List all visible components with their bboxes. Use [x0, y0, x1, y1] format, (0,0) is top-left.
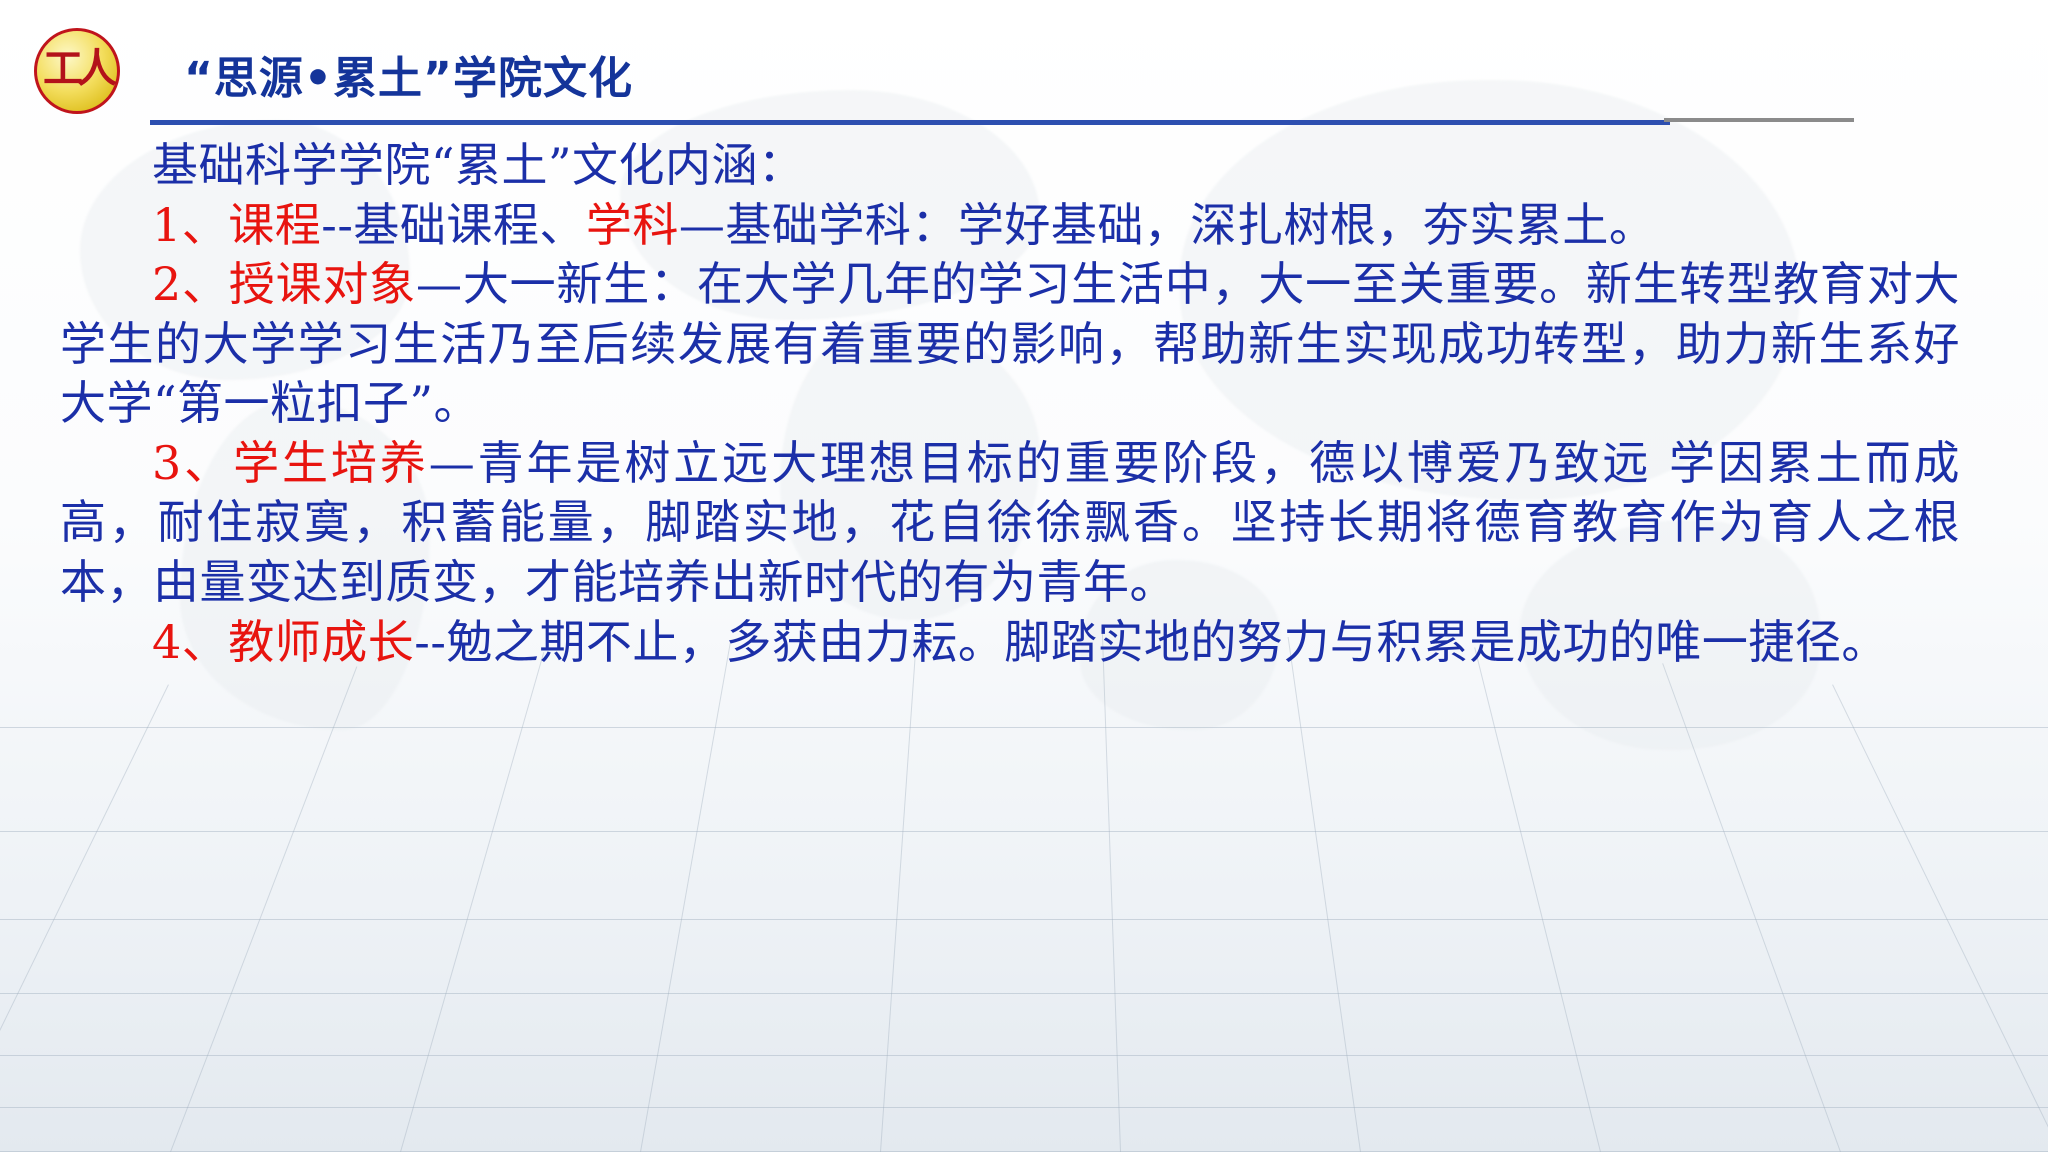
item-1-keyword-a: 课程	[228, 198, 321, 252]
intro-text: 基础科学学院“累土”文化内涵：	[152, 138, 805, 192]
page-title: “思源•累土”学院文化	[184, 42, 633, 106]
item-1-mid: --基础课程、	[321, 198, 586, 252]
paragraph-item-3: 3、学生培养—青年是树立远大理想目标的重要阶段，德以博爱乃致远 学因累土而成高，…	[0, 434, 2048, 613]
emblem-glyph: 工人	[43, 49, 111, 89]
paragraph-item-1: 1、课程--基础课程、学科—基础学科：学好基础，深扎树根，夯实累土。	[0, 196, 2048, 256]
paragraph-item-4: 4、教师成长--勉之期不止，多获由力耘。脚踏实地的努力与积累是成功的唯一捷径。	[0, 613, 2048, 673]
item-1-number: 1、	[152, 198, 228, 252]
header-divider-accent	[1664, 118, 1854, 122]
paragraph-intro: 基础科学学院“累土”文化内涵：	[0, 136, 2048, 196]
item-1-keyword-b: 学科	[586, 198, 679, 252]
item-3-number: 3、	[152, 436, 233, 490]
college-emblem-icon: 工人	[34, 28, 120, 114]
item-2-number: 2、	[152, 257, 229, 311]
item-2-keyword-a: 授课对象	[229, 257, 416, 311]
header-divider	[150, 120, 1670, 125]
slide-header: 工人 “思源•累土”学院文化	[0, 0, 2048, 132]
item-1-text: —基础学科：学好基础，深扎树根，夯实累土。	[679, 198, 1656, 252]
perspective-grid	[0, 632, 2048, 1152]
item-4-text: --勉之期不止，多获由力耘。脚踏实地的努力与积累是成功的唯一捷径。	[414, 615, 1888, 669]
slide-body: 基础科学学院“累土”文化内涵： 1、课程--基础课程、学科—基础学科：学好基础，…	[0, 136, 2048, 672]
paragraph-item-2: 2、授课对象—大一新生：在大学几年的学习生活中，大一至关重要。新生转型教育对大学…	[0, 255, 2048, 434]
item-4-keyword-a: 教师成长	[228, 615, 414, 669]
item-4-number: 4、	[152, 615, 228, 669]
item-3-keyword-a: 学生培养	[233, 436, 429, 490]
slide-canvas: 工人 “思源•累土”学院文化 基础科学学院“累土”文化内涵： 1、课程--基础课…	[0, 0, 2048, 1152]
